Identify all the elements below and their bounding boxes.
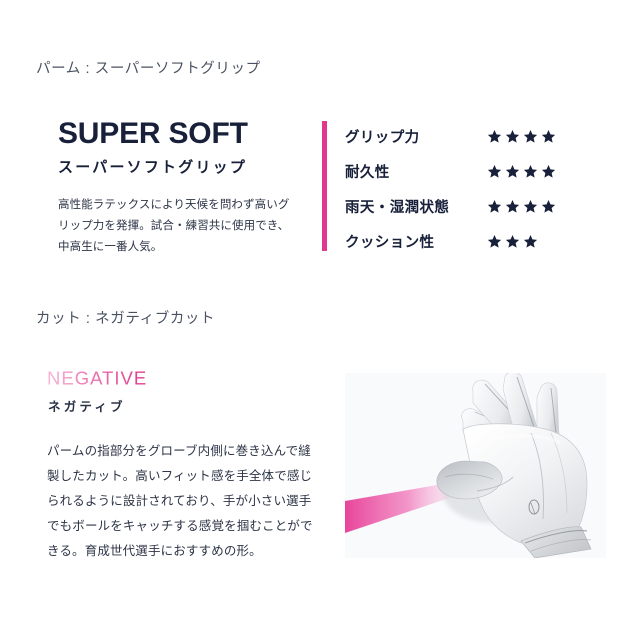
super-soft-text-block: SUPER SOFT スーパーソフトグリップ 高性能ラテックスにより天候を問わず… [58, 118, 308, 258]
star-icon [505, 234, 520, 249]
star-icon [523, 199, 538, 214]
star-icon [523, 129, 538, 144]
spec-label: グリップ力 [345, 126, 487, 147]
spec-star-rating [487, 234, 538, 249]
spec-star-rating [487, 164, 556, 179]
spec-star-rating [487, 199, 556, 214]
cut-section-heading: カット : ネガティブカット [36, 307, 215, 328]
star-icon [541, 164, 556, 179]
star-icon [505, 129, 520, 144]
super-soft-description: 高性能ラテックスにより天候を問わず高いグリップ力を発揮。試合・練習共に使用でき、… [58, 195, 296, 259]
spec-row: グリップ力 [345, 119, 610, 154]
accent-bar [322, 121, 327, 251]
spec-star-rating [487, 129, 556, 144]
star-icon [505, 199, 520, 214]
super-soft-title: SUPER SOFT [58, 118, 308, 150]
star-icon [541, 129, 556, 144]
spec-label: クッション性 [345, 231, 487, 252]
star-icon [487, 164, 502, 179]
glove-photo [345, 373, 606, 558]
spec-row: 雨天・湿潤状態 [345, 189, 610, 224]
spec-row: クッション性 [345, 224, 610, 259]
spec-label: 雨天・湿潤状態 [345, 196, 487, 217]
palm-section-heading: パーム : スーパーソフトグリップ [36, 57, 261, 78]
spec-label: 耐久性 [345, 161, 487, 182]
product-feature-page: パーム : スーパーソフトグリップ SUPER SOFT スーパーソフトグリップ… [0, 0, 640, 640]
star-icon [523, 234, 538, 249]
star-icon [487, 199, 502, 214]
glove-illustration [345, 373, 606, 558]
star-icon [523, 164, 538, 179]
star-icon [487, 234, 502, 249]
negative-description: パームの指部分をグローブ内側に巻き込んで縫製したカット。高いフィット感を手全体で… [47, 439, 319, 564]
negative-subtitle: ネガティブ [48, 396, 317, 415]
negative-logo-text: NEGATIVE [47, 368, 147, 389]
negative-text-block: NEGATIVE ネガティブ パームの指部分をグローブ内側に巻き込んで縫製したカ… [47, 368, 317, 564]
negative-logo: NEGATIVE [47, 368, 191, 390]
star-icon [541, 199, 556, 214]
super-soft-subtitle: スーパーソフトグリップ [58, 156, 308, 177]
star-icon [505, 164, 520, 179]
star-icon [487, 129, 502, 144]
spec-rating-list: グリップ力耐久性雨天・湿潤状態クッション性 [345, 119, 610, 259]
spec-row: 耐久性 [345, 154, 610, 189]
